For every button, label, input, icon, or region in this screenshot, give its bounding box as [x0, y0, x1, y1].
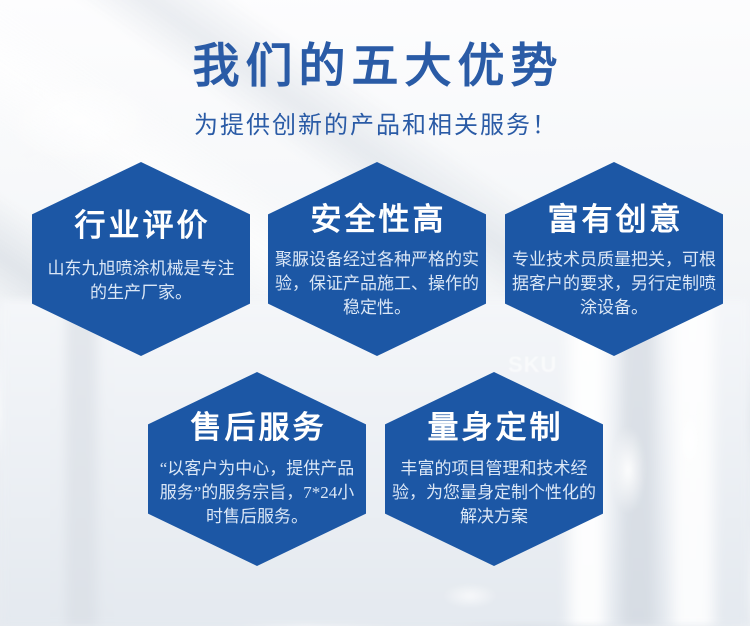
advantage-card-industry-reputation: 行业评价 山东九旭喷涂机械是专注的生产厂家。	[32, 162, 250, 356]
advantage-description: “以客户为中心，提供产品服务”的服务宗旨，7*24小时售后服务。	[152, 457, 362, 529]
advantage-card-creative: 富有创意 专业技术员质量把关，可根据客户的要求，另行定制喷涂设备。	[505, 162, 723, 356]
advantage-title: 富有创意	[545, 204, 684, 235]
advantage-card-high-safety: 安全性高 聚脲设备经过各种严格的实验，保证产品施工、操作的稳定性。	[268, 162, 486, 356]
banner-header: 我们的五大优势 为提供创新的产品和相关服务！	[0, 42, 750, 140]
advantage-description: 聚脲设备经过各种严格的实验，保证产品施工、操作的稳定性。	[274, 248, 480, 320]
advantages-banner: SKU 我们的五大优势 为提供创新的产品和相关服务！ 行业评价 山东九旭喷涂机械…	[0, 0, 750, 626]
advantage-title: 售后服务	[188, 412, 327, 443]
advantage-description: 专业技术员质量把关，可根据客户的要求，另行定制喷涂设备。	[510, 248, 718, 320]
advantage-title: 量身定制	[425, 412, 564, 443]
advantage-title: 行业评价	[72, 210, 211, 241]
advantage-description: 山东九旭喷涂机械是专注的生产厂家。	[43, 257, 239, 305]
advantage-card-after-sales-service: 售后服务 “以客户为中心，提供产品服务”的服务宗旨，7*24小时售后服务。	[148, 372, 366, 566]
advantage-title: 安全性高	[308, 204, 447, 235]
page-title: 我们的五大优势	[0, 42, 750, 93]
advantage-description: 丰富的项目管理和技术经验，为您量身定制个性化的解决方案	[391, 457, 597, 529]
page-subtitle: 为提供创新的产品和相关服务！	[0, 105, 750, 140]
advantage-card-tailor-made: 量身定制 丰富的项目管理和技术经验，为您量身定制个性化的解决方案	[385, 372, 603, 566]
